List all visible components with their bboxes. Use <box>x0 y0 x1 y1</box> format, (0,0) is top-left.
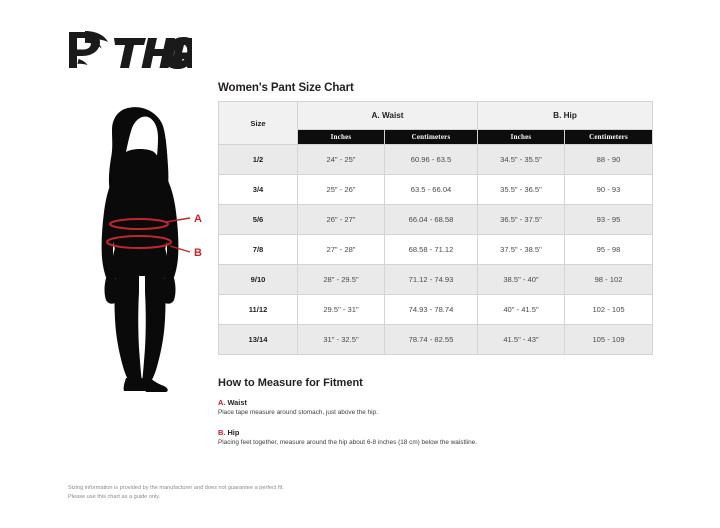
measure-waist-heading: A. Waist <box>218 398 654 407</box>
header-group-waist: A. Waist <box>298 102 478 130</box>
cell-hip-centimeters: 88 - 90 <box>565 145 653 175</box>
disclaimer-line-2: Please use this chart as a guide only. <box>68 493 488 502</box>
measure-item-waist: A. Waist Place tape measure around stoma… <box>218 398 654 417</box>
cell-hip-inches: 34.5" - 35.5" <box>478 145 565 175</box>
header-size: Size <box>219 102 298 145</box>
table-row: 9/1028" - 29.5"71.12 - 74.9338.5" - 40"9… <box>219 265 653 295</box>
disclaimer: Sizing information is provided by the ma… <box>68 484 488 501</box>
cell-hip-centimeters: 98 - 102 <box>565 265 653 295</box>
cell-hip-inches: 38.5" - 40" <box>478 265 565 295</box>
measure-hip-heading: B. Hip <box>218 428 654 437</box>
cell-waist-centimeters: 68.58 - 71.12 <box>385 235 478 265</box>
cell-waist-centimeters: 74.93 - 78.74 <box>385 295 478 325</box>
cell-size: 13/14 <box>219 325 298 355</box>
measure-hip-marker: B. <box>218 428 225 437</box>
cell-size: 1/2 <box>219 145 298 175</box>
svg-text:™: ™ <box>187 63 192 68</box>
table-body: 1/224" - 25"60.96 - 63.534.5" - 35.5"88 … <box>219 145 653 355</box>
header-group-hip: B. Hip <box>478 102 653 130</box>
cell-waist-centimeters: 63.5 - 66.04 <box>385 175 478 205</box>
how-to-measure-section: How to Measure for Fitment A. Waist Plac… <box>218 377 654 448</box>
cell-waist-inches: 26" - 27" <box>298 205 385 235</box>
cell-size: 7/8 <box>219 235 298 265</box>
cell-hip-centimeters: 90 - 93 <box>565 175 653 205</box>
cell-waist-centimeters: 71.12 - 74.93 <box>385 265 478 295</box>
cell-waist-centimeters: 78.74 - 82.55 <box>385 325 478 355</box>
header-hip-centimeters: Centimeters <box>565 130 653 145</box>
cell-hip-centimeters: 95 - 98 <box>565 235 653 265</box>
header-waist-centimeters: Centimeters <box>385 130 478 145</box>
callout-a-label: A <box>194 213 202 225</box>
cell-hip-centimeters: 93 - 95 <box>565 205 653 235</box>
measure-waist-marker: A. <box>218 398 225 407</box>
page-title: Women's Pant Size Chart <box>218 82 654 94</box>
cell-hip-inches: 40" - 41.5" <box>478 295 565 325</box>
table-row: 5/626" - 27"66.04 - 68.5836.5" - 37.5"93… <box>219 205 653 235</box>
chart-content: Women's Pant Size Chart Size A. Waist B.… <box>218 82 654 459</box>
cell-size: 11/12 <box>219 295 298 325</box>
table-row: 7/827" - 28"68.58 - 71.1237.5" - 38.5"95… <box>219 235 653 265</box>
cell-hip-inches: 37.5" - 38.5" <box>478 235 565 265</box>
cell-size: 5/6 <box>219 205 298 235</box>
cell-hip-inches: 36.5" - 37.5" <box>478 205 565 235</box>
measure-item-hip: B. Hip Placing feet together, measure ar… <box>218 428 654 447</box>
header-waist-inches: Inches <box>298 130 385 145</box>
cell-size: 3/4 <box>219 175 298 205</box>
female-body-figure: A B <box>70 96 210 396</box>
table-row: 1/224" - 25"60.96 - 63.534.5" - 35.5"88 … <box>219 145 653 175</box>
cell-waist-inches: 25" - 26" <box>298 175 385 205</box>
cell-waist-inches: 31" - 32.5" <box>298 325 385 355</box>
cell-waist-inches: 28" - 29.5" <box>298 265 385 295</box>
disclaimer-line-1: Sizing information is provided by the ma… <box>68 484 488 493</box>
cell-hip-inches: 41.5" - 43" <box>478 325 565 355</box>
cell-size: 9/10 <box>219 265 298 295</box>
cell-waist-inches: 29.5" - 31" <box>298 295 385 325</box>
table-row: 11/1229.5" - 31"74.93 - 78.7440" - 41.5"… <box>219 295 653 325</box>
cell-hip-centimeters: 102 - 105 <box>565 295 653 325</box>
cell-waist-inches: 24" - 25" <box>298 145 385 175</box>
cell-hip-inches: 35.5" - 36.5" <box>478 175 565 205</box>
measure-waist-name: Waist <box>227 398 246 407</box>
body-silhouette <box>102 107 179 392</box>
table-row: 13/1431" - 32.5"78.74 - 82.5541.5" - 43"… <box>219 325 653 355</box>
measure-hip-name: Hip <box>227 428 239 437</box>
cell-hip-centimeters: 105 - 109 <box>565 325 653 355</box>
measure-waist-text: Place tape measure around stomach, just … <box>218 409 654 417</box>
measure-hip-text: Placing feet together, measure around th… <box>218 439 654 447</box>
size-chart-table: Size A. Waist B. Hip Inches Centimeters … <box>218 101 653 355</box>
header-hip-inches: Inches <box>478 130 565 145</box>
cell-waist-centimeters: 60.96 - 63.5 <box>385 145 478 175</box>
cell-waist-centimeters: 66.04 - 68.58 <box>385 205 478 235</box>
table-row: 3/425" - 26"63.5 - 66.0435.5" - 36.5"90 … <box>219 175 653 205</box>
how-to-measure-title: How to Measure for Fitment <box>218 377 654 389</box>
cell-waist-inches: 27" - 28" <box>298 235 385 265</box>
thor-logo: ™ <box>62 28 192 72</box>
table-header-groups: Size A. Waist B. Hip <box>219 102 653 130</box>
callout-b-label: B <box>194 247 202 259</box>
